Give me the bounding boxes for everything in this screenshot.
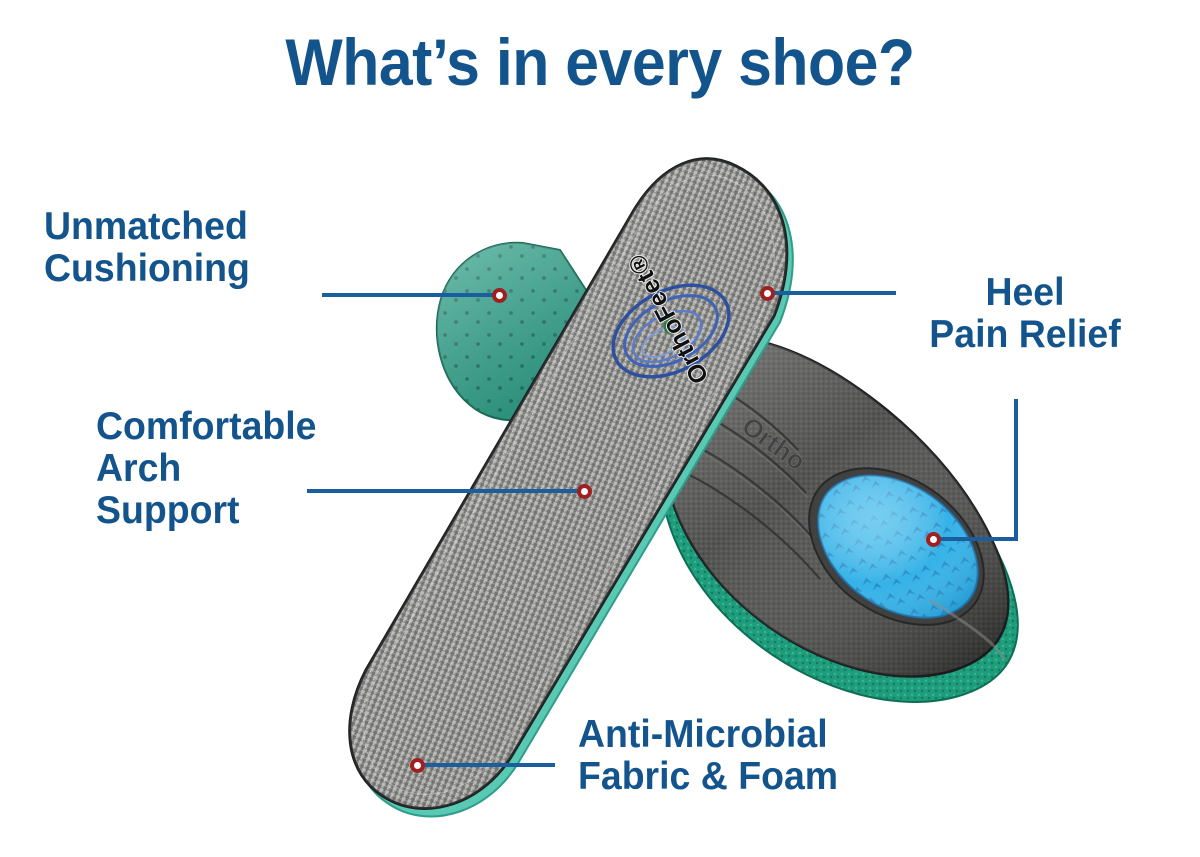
infographic-canvas: What’s in every shoe? — [0, 0, 1200, 857]
leader-line-heel-vertical — [1014, 399, 1018, 541]
callout-dot-heel-gel[interactable] — [926, 532, 941, 547]
leader-line-arch — [307, 489, 587, 493]
callout-dot-arch[interactable] — [577, 484, 592, 499]
callout-dot-fabric[interactable] — [410, 758, 425, 773]
leader-line-heel-upper — [772, 291, 896, 295]
leader-line-fabric — [424, 763, 555, 767]
leader-line-cushioning — [322, 293, 502, 297]
callout-dot-cushioning[interactable] — [492, 288, 507, 303]
callout-dot-heel-upper[interactable] — [760, 286, 775, 301]
leader-line-heel-horizontal — [938, 537, 1018, 541]
product-photo-illustration: Ortho — [0, 0, 1200, 857]
